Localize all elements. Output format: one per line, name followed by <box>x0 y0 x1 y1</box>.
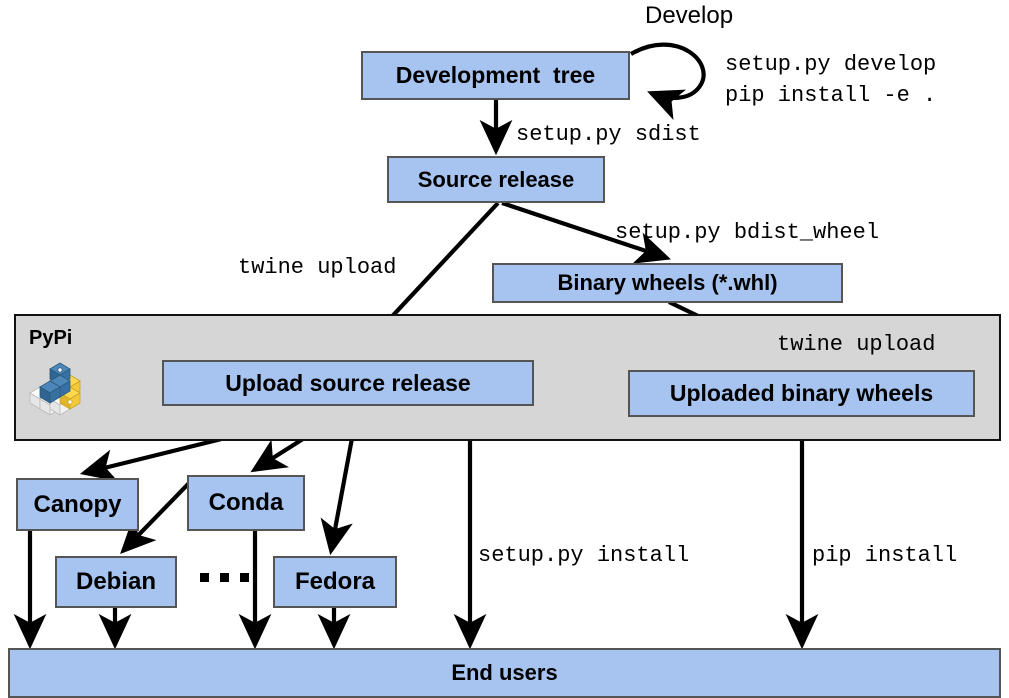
node-debian[interactable]: Debian <box>55 556 177 608</box>
pypi-group-label: PyPi <box>29 327 72 350</box>
label-pip-install: pip install <box>812 543 957 570</box>
node-uploaded-binary-wheels[interactable]: Uploaded binary wheels <box>628 370 975 417</box>
node-development-tree[interactable]: Development tree <box>361 51 630 100</box>
label-twine-upload-wheels: twine upload <box>777 332 935 359</box>
dot-1 <box>200 573 209 582</box>
node-conda[interactable]: Conda <box>187 475 305 531</box>
label-setup-py-sdist: setup.py sdist <box>516 122 701 149</box>
label-setup-py-install: setup.py install <box>478 543 689 570</box>
dot-3 <box>240 573 249 582</box>
ellipsis-dots <box>200 573 249 582</box>
dot-2 <box>220 573 229 582</box>
label-develop: Develop <box>645 2 733 30</box>
label-setup-py-bdist-wheel: setup.py bdist_wheel <box>615 220 879 247</box>
node-source-release[interactable]: Source release <box>387 156 605 203</box>
diagram-canvas: PyPi <box>0 0 1009 698</box>
label-twine-upload-source: twine upload <box>238 255 396 282</box>
node-binary-wheels[interactable]: Binary wheels (*.whl) <box>492 263 843 303</box>
node-upload-source-release[interactable]: Upload source release <box>162 360 534 406</box>
python-logo-isometric <box>26 357 88 415</box>
python-logo-svg <box>26 357 88 415</box>
label-pip-install-editable: pip install -e . <box>725 83 936 110</box>
node-canopy[interactable]: Canopy <box>16 478 139 531</box>
node-end-users[interactable]: End users <box>8 648 1001 698</box>
label-setup-py-develop: setup.py develop <box>725 52 936 79</box>
node-fedora[interactable]: Fedora <box>273 556 397 608</box>
